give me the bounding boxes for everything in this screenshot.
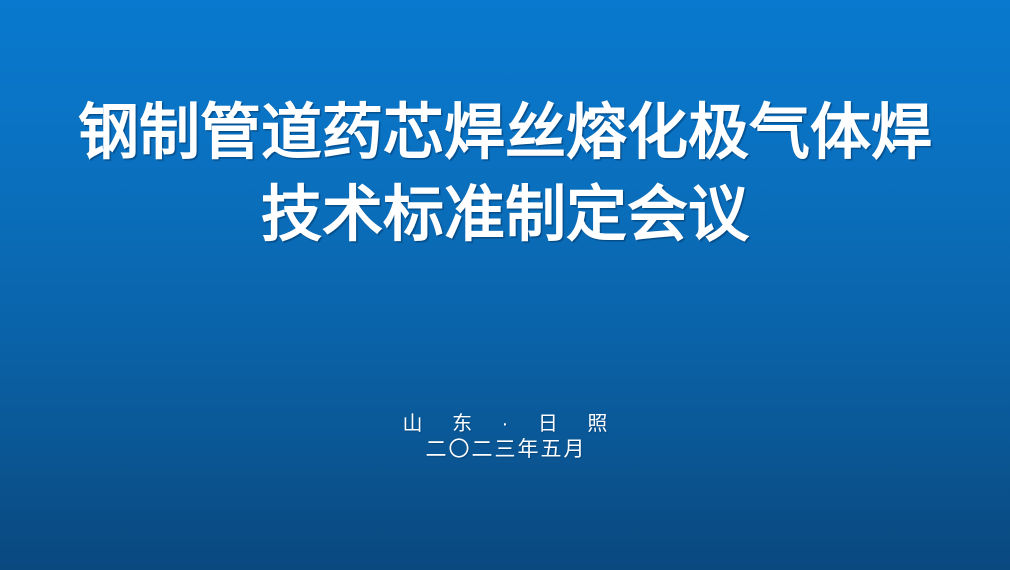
slide-title: 钢制管道药芯焊丝熔化极气体焊 技术标准制定会议 (0, 92, 1010, 254)
title-line-1: 钢制管道药芯焊丝熔化极气体焊 (0, 92, 1010, 172)
title-line-2: 技术标准制定会议 (0, 174, 1010, 254)
slide-subtitle: 山 东 · 日 照 二〇二三年五月 (0, 412, 1010, 462)
subtitle-date: 二〇二三年五月 (0, 437, 1010, 462)
subtitle-location: 山 东 · 日 照 (0, 412, 1010, 437)
title-slide: 钢制管道药芯焊丝熔化极气体焊 技术标准制定会议 山 东 · 日 照 二〇二三年五… (0, 0, 1010, 570)
